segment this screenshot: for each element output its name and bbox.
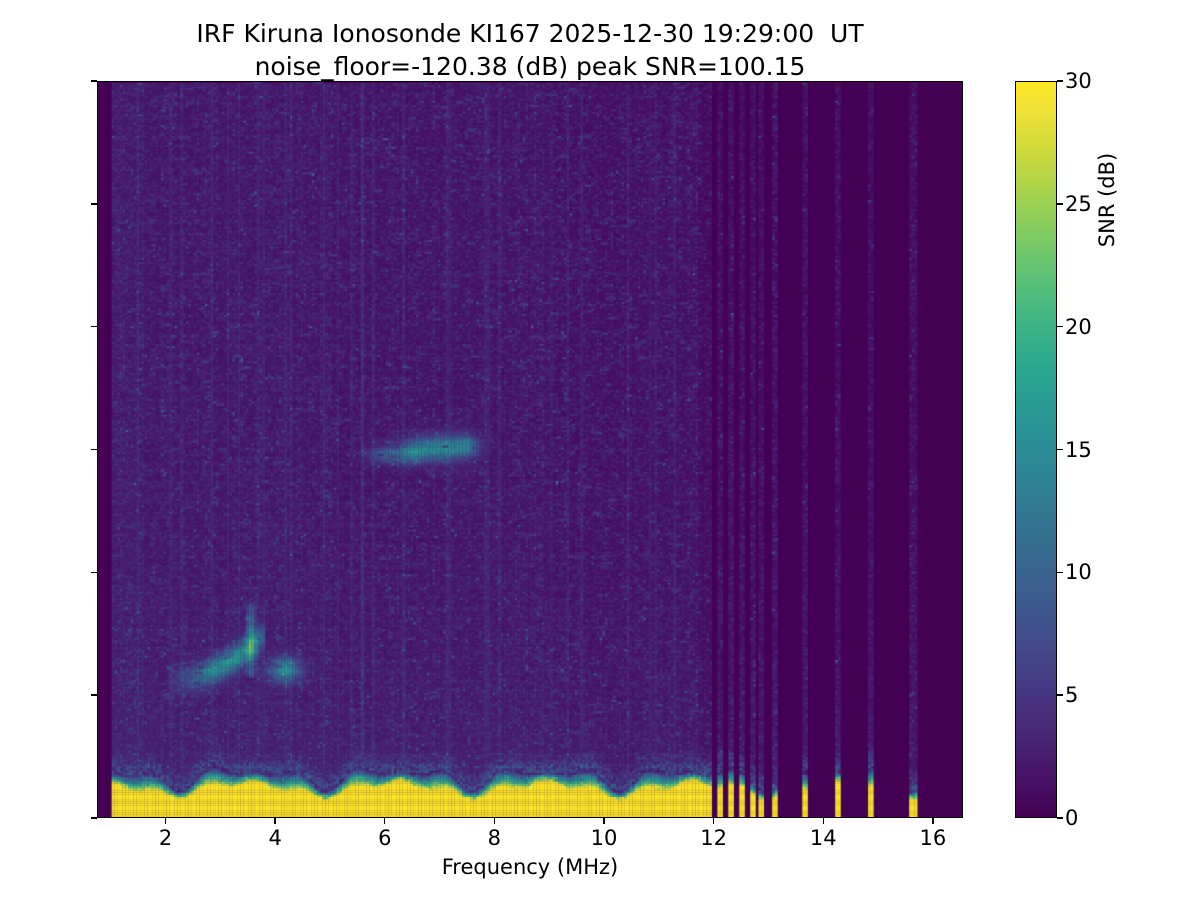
- colorbar-tick-label: 20: [1065, 315, 1092, 339]
- figure-title: IRF Kiruna Ionosonde KI167 2025-12-30 19…: [0, 18, 1060, 83]
- y-tick-mark: [91, 80, 97, 81]
- y-tick-mark: [91, 572, 97, 573]
- colorbar: [1015, 81, 1057, 818]
- colorbar-label: SNR (dB): [1095, 0, 1119, 450]
- y-tick-mark: [91, 694, 97, 695]
- colorbar-tick-label: 15: [1065, 438, 1092, 462]
- x-tick-label: 4: [268, 826, 281, 850]
- x-tick-label: 14: [810, 826, 837, 850]
- title-line-1: IRF Kiruna Ionosonde KI167 2025-12-30 19…: [0, 18, 1060, 51]
- colorbar-tick-mark: [1057, 326, 1063, 327]
- x-tick-label: 12: [700, 826, 727, 850]
- x-tick-mark: [932, 818, 933, 824]
- x-tick-label: 2: [159, 826, 172, 850]
- colorbar-tick-label: 10: [1065, 560, 1092, 584]
- x-tick-label: 6: [378, 826, 391, 850]
- x-tick-mark: [494, 818, 495, 824]
- colorbar-tick-mark: [1057, 449, 1063, 450]
- x-tick-label: 16: [919, 826, 946, 850]
- x-tick-mark: [823, 818, 824, 824]
- colorbar-tick-label: 25: [1065, 192, 1092, 216]
- ionogram-figure: IRF Kiruna Ionosonde KI167 2025-12-30 19…: [0, 0, 1200, 900]
- y-tick-mark: [91, 817, 97, 818]
- colorbar-tick-label: 30: [1065, 69, 1092, 93]
- heatmap-plot-area: [97, 81, 963, 818]
- colorbar-gradient: [1016, 82, 1056, 817]
- x-tick-label: 8: [488, 826, 501, 850]
- y-tick-mark: [91, 449, 97, 450]
- colorbar-tick-mark: [1057, 817, 1063, 818]
- title-line-2: noise_floor=-120.38 (dB) peak SNR=100.15: [0, 51, 1060, 84]
- x-tick-mark: [384, 818, 385, 824]
- colorbar-tick-label: 5: [1065, 683, 1078, 707]
- x-axis-label: Frequency (MHz): [97, 855, 963, 879]
- y-tick-mark: [91, 203, 97, 204]
- y-tick-mark: [91, 326, 97, 327]
- x-tick-mark: [274, 818, 275, 824]
- ionogram-heatmap: [98, 82, 963, 818]
- colorbar-tick-mark: [1057, 203, 1063, 204]
- x-tick-mark: [165, 818, 166, 824]
- colorbar-tick-mark: [1057, 80, 1063, 81]
- x-tick-label: 10: [591, 826, 618, 850]
- x-tick-mark: [713, 818, 714, 824]
- colorbar-tick-mark: [1057, 572, 1063, 573]
- x-tick-mark: [603, 818, 604, 824]
- colorbar-tick-mark: [1057, 694, 1063, 695]
- colorbar-tick-label: 0: [1065, 806, 1078, 830]
